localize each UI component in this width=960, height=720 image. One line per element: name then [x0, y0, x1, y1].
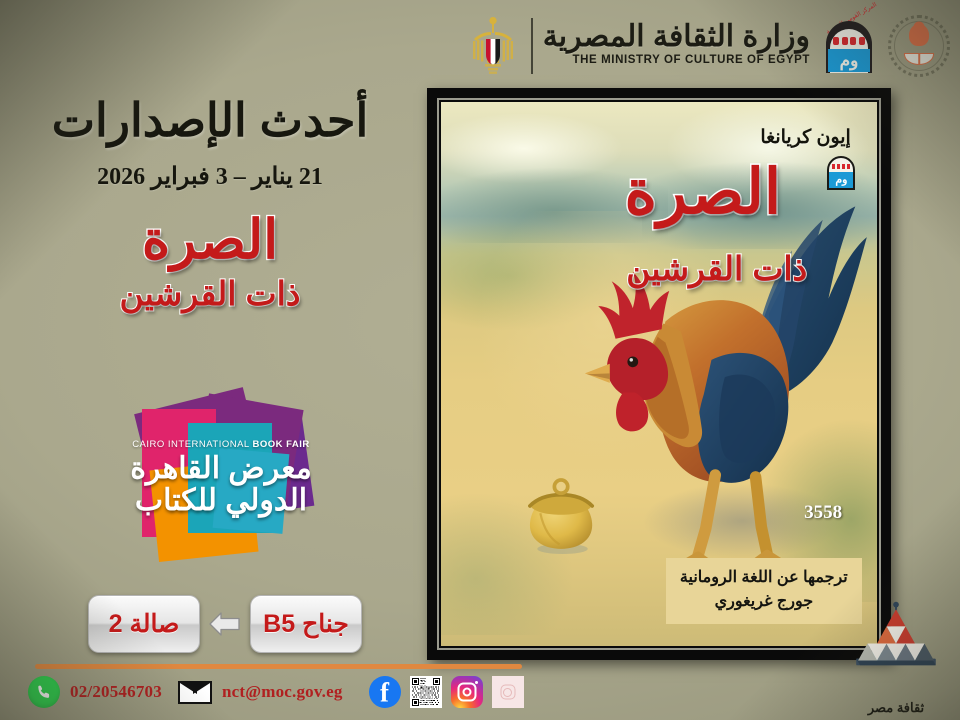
- cover-series-number: 3558: [804, 502, 842, 524]
- poster-canvas: وزارة الثقافة المصرية THE MINISTRY OF CU…: [0, 0, 960, 720]
- book-subtitle: ذات القرشين: [0, 277, 420, 310]
- fair-logo-en-prefix: CAIRO INTERNATIONAL: [132, 439, 252, 450]
- page-headline: أحدث الإصدارات: [0, 96, 420, 144]
- facebook-icon[interactable]: f: [369, 676, 401, 708]
- book-organization-seal-icon: [888, 15, 950, 77]
- fair-logo-arabic-text: معرض القاهرة الدولي للكتاب: [128, 453, 314, 516]
- booth-badge[interactable]: جناح B5: [250, 595, 362, 653]
- book-title: الصرة: [0, 213, 420, 267]
- nct-dots: [833, 37, 865, 46]
- cairo-international-book-fair-logo: CAIRO INTERNATIONAL BOOK FAIR معرض القاه…: [128, 393, 314, 563]
- translated-from-line: ترجمها عن اللغة الرومانية: [680, 566, 848, 591]
- instagram-lens: [462, 688, 471, 697]
- hall-badge[interactable]: صالة 2: [88, 595, 200, 653]
- cover-logo-dots: [832, 164, 850, 169]
- cover-publisher-logo: وم: [825, 154, 857, 192]
- location-badges: جناح B5 صالة 2: [88, 595, 362, 653]
- ministry-title: وزارة الثقافة المصرية THE MINISTRY OF CU…: [543, 22, 810, 71]
- arrow-left-icon: [208, 611, 242, 637]
- cover-author-name: إيون كريانغا: [760, 126, 850, 149]
- fair-dates: 21 يناير – 3 فبراير 2026: [0, 162, 420, 191]
- fair-logo-ar-line1: معرض القاهرة: [128, 453, 314, 485]
- national-center-for-translation-logo: المركز القومي للترجمة وم: [820, 15, 878, 77]
- header-divider: [531, 18, 533, 74]
- thaqafet-masr-label: ثقافة مصر: [848, 700, 944, 716]
- header-bar: وزارة الثقافة المصرية THE MINISTRY OF CU…: [465, 8, 950, 84]
- left-text-column: أحدث الإصدارات 21 يناير – 3 فبراير 2026 …: [0, 96, 420, 310]
- cover-logo-glyph: وم: [829, 172, 853, 188]
- qr-code-icon[interactable]: [410, 676, 442, 708]
- ministry-title-english: THE MINISTRY OF CULTURE OF EGYPT: [543, 55, 810, 67]
- book-cover-frame-inner: وم إيون كريانغا الصرة ذات القرشين 3558 ت…: [437, 98, 881, 650]
- facebook-glyph: f: [380, 679, 389, 706]
- fair-logo-english-text: CAIRO INTERNATIONAL BOOK FAIR: [128, 439, 314, 450]
- footer-contact-bar: 02/20546703 nct@moc.gov.eg f: [28, 676, 524, 708]
- instagram-icon[interactable]: [451, 676, 483, 708]
- cover-title: الصرة: [625, 162, 782, 224]
- rooster-illustration: [581, 173, 869, 608]
- fair-logo-ar-line2: الدولي للكتاب: [128, 485, 314, 517]
- cover-translation-credit: ترجمها عن اللغة الرومانية جورج غريغوري: [666, 558, 862, 625]
- cover-subtitle: ذات القرشين: [626, 252, 807, 285]
- instagram-qr-glyph: [500, 685, 515, 700]
- social-icons: f: [369, 676, 524, 708]
- book-cover-artwork: وم إيون كريانغا الصرة ذات القرشين 3558 ت…: [441, 102, 877, 646]
- thaqafet-masr-pyramid-logo: [848, 598, 944, 694]
- phone-number[interactable]: 02/20546703: [70, 682, 162, 702]
- instagram-qr-code-icon[interactable]: [492, 676, 524, 708]
- fair-logo-en-bold: BOOK FAIR: [253, 439, 310, 450]
- ministry-title-arabic: وزارة الثقافة المصرية: [543, 22, 810, 52]
- instagram-dot: [475, 681, 478, 684]
- translator-name: جورج غريغوري: [680, 590, 848, 615]
- envelope-icon: [178, 681, 212, 704]
- email-address[interactable]: nct@moc.gov.eg: [222, 682, 343, 702]
- eagle-of-saladin-emblem: [465, 13, 521, 79]
- phone-icon: [28, 676, 60, 708]
- coin-purse-illustration: [524, 472, 598, 559]
- footer-divider-rule: [35, 664, 522, 669]
- seal-figure-body: [909, 24, 929, 46]
- nct-glyph: وم: [820, 49, 878, 72]
- book-cover-frame: وم إيون كريانغا الصرة ذات القرشين 3558 ت…: [427, 88, 891, 660]
